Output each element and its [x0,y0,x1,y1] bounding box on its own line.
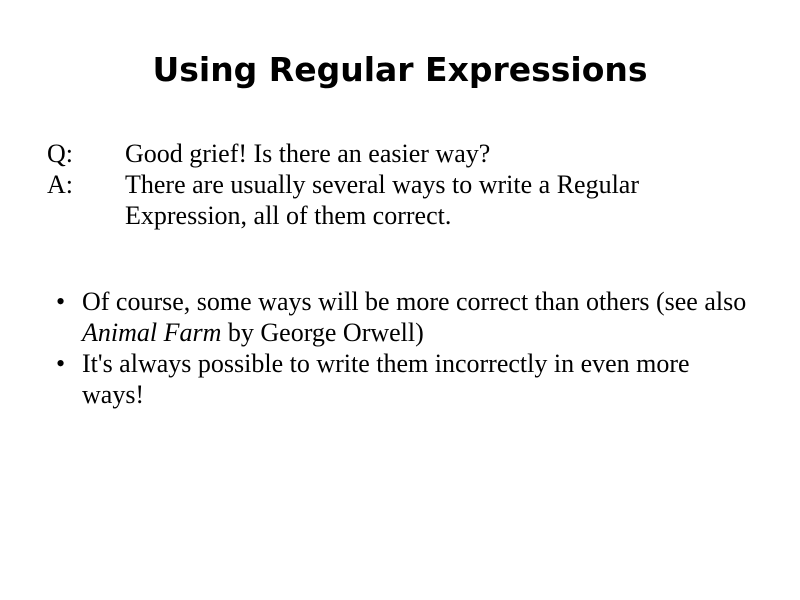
body-spacer [0,231,800,286]
list-item-emphasis: Animal Farm [82,318,221,347]
slide-body: Q: Good grief! Is there an easier way? A… [0,138,800,410]
list-item-text-before: Of course, some ways will be more correc… [82,287,746,316]
question-label: Q: [47,138,125,169]
presentation-slide: Using Regular Expressions Q: Good grief!… [0,0,800,600]
list-item-text: It's always possible to write them incor… [82,348,752,410]
question-text: Good grief! Is there an easier way? [125,138,754,169]
qa-row-question: Q: Good grief! Is there an easier way? [0,138,800,169]
list-item-text: Of course, some ways will be more correc… [82,286,752,348]
list-item-text-before: It's always possible to write them incor… [82,349,690,409]
slide-title: Using Regular Expressions [0,50,800,90]
bullet-point-icon: • [56,286,82,317]
answer-label: A: [47,169,125,200]
bullet-point-icon: • [56,348,82,379]
list-item-text-after: by George Orwell) [221,318,423,347]
list-item: • Of course, some ways will be more corr… [0,286,800,348]
answer-text: There are usually several ways to write … [125,169,754,231]
list-item: • It's always possible to write them inc… [0,348,800,410]
bullet-list: • Of course, some ways will be more corr… [0,286,800,410]
qa-row-answer: A: There are usually several ways to wri… [0,169,800,231]
